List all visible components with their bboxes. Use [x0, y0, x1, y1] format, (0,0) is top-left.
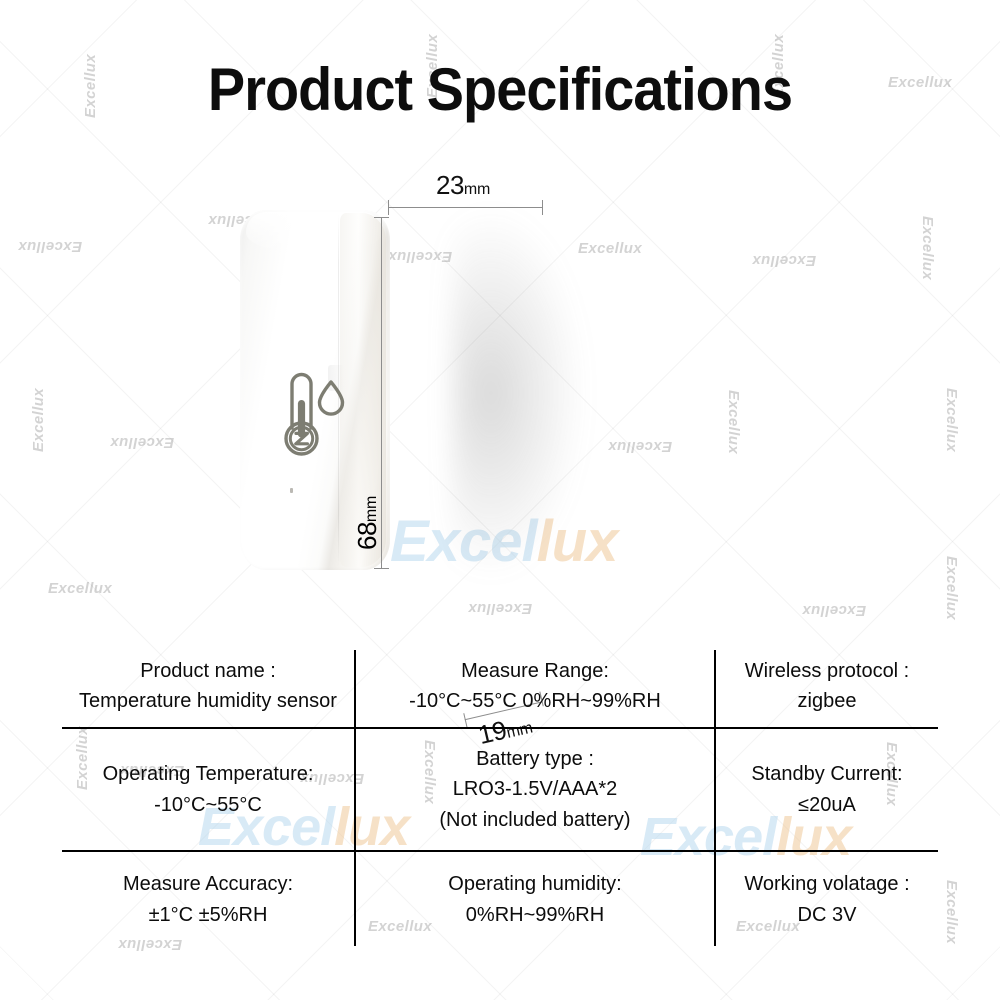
cell-line: Measure Range:	[461, 656, 609, 686]
cell-line: Battery type :	[476, 744, 594, 774]
cell-line: Temperature humidity sensor	[79, 686, 337, 716]
spec-table: Product name : Temperature humidity sens…	[62, 645, 938, 947]
dimension-tick	[542, 200, 543, 215]
device-indicator-dot	[290, 488, 293, 493]
dimension-unit: mm	[363, 496, 380, 522]
watermark-text: Excellux	[943, 880, 960, 944]
dimension-unit: mm	[464, 181, 490, 198]
cell-line: Standby Current:	[751, 759, 902, 789]
cell-line: 0%RH~99%RH	[466, 900, 604, 930]
dimension-value: 23	[436, 170, 464, 200]
cell-line: LRO3-1.5V/AAA*2	[453, 774, 618, 804]
dimension-tick	[374, 217, 389, 218]
product-specification-page: Excellux Excellux Excellux Excellux Exce…	[0, 0, 1000, 1000]
cell-line: Measure Accuracy:	[123, 869, 293, 899]
thermometer-humidity-zigbee-icon	[270, 362, 354, 468]
cell-line: ±1°C ±5%RH	[149, 900, 268, 930]
table-cell-operating-humidity: Operating humidity: 0%RH~99%RH	[356, 852, 714, 947]
table-cell-working-voltage: Working volatage : DC 3V	[716, 852, 938, 947]
dimension-value: 68	[352, 522, 382, 550]
table-cell-standby-current: Standby Current: ≤20uA	[716, 729, 938, 850]
device-shadow	[452, 212, 582, 574]
page-title: Product Specifications	[35, 55, 965, 124]
table-cell-product-name: Product name : Temperature humidity sens…	[62, 645, 354, 727]
table-cell-measure-accuracy: Measure Accuracy: ±1°C ±5%RH	[62, 852, 354, 947]
cell-line: Product name :	[140, 656, 276, 686]
product-photo-area: 23mm 68mm 19mm	[0, 150, 1000, 620]
cell-line: Wireless protocol :	[745, 656, 910, 686]
cell-line: Operating Temperature:	[103, 759, 314, 789]
cell-line: DC 3V	[798, 900, 857, 930]
table-cell-wireless-protocol: Wireless protocol : zigbee	[716, 645, 938, 727]
table-cell-measure-range: Measure Range: -10°C~55°C 0%RH~99%RH	[356, 645, 714, 727]
cell-line: Working volatage :	[744, 869, 909, 899]
cell-line: zigbee	[798, 686, 857, 716]
dimension-label-height: 68mm	[352, 496, 383, 550]
table-cell-operating-temperature: Operating Temperature: -10°C~55°C	[62, 729, 354, 850]
dimension-label-width: 23mm	[436, 170, 490, 201]
dimension-tick	[374, 568, 389, 569]
cell-line: (Not included battery)	[439, 805, 630, 835]
cell-line: -10°C~55°C 0%RH~99%RH	[409, 686, 661, 716]
dimension-tick	[388, 200, 389, 215]
dimension-line	[388, 207, 543, 208]
cell-line: Operating humidity:	[448, 869, 621, 899]
cell-line: ≤20uA	[798, 790, 856, 820]
table-cell-battery-type: Battery type : LRO3-1.5V/AAA*2 (Not incl…	[356, 729, 714, 850]
cell-line: -10°C~55°C	[154, 790, 262, 820]
